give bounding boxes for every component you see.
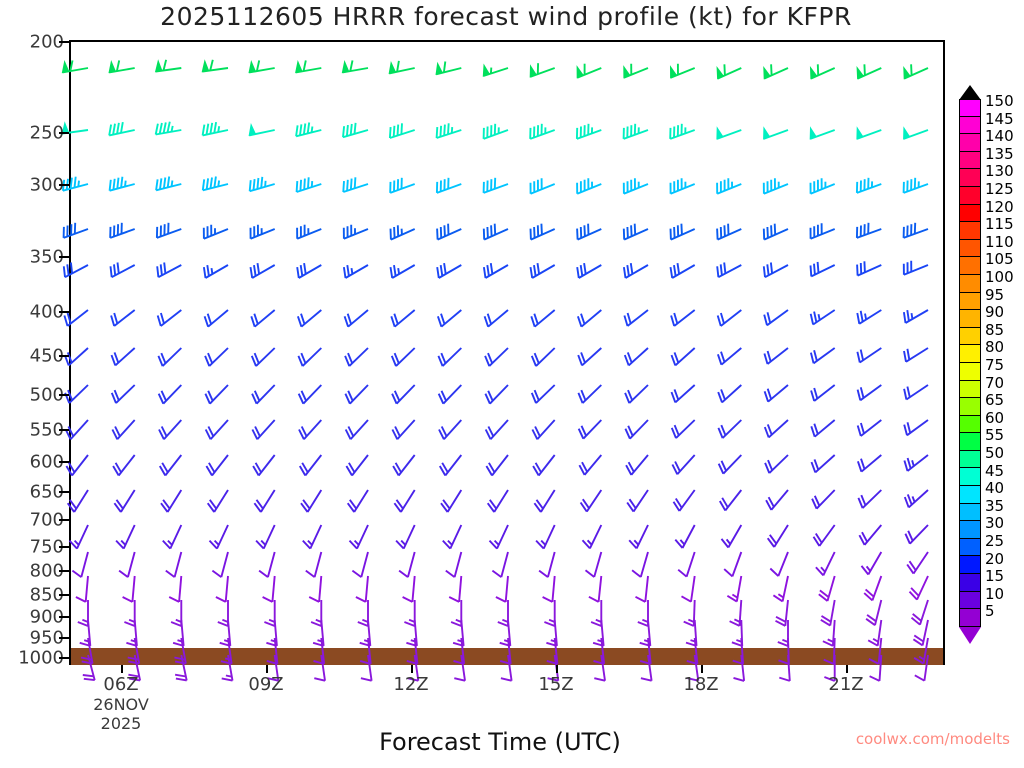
y-axis-tick-mark	[59, 616, 69, 618]
colorbar-tick-label: 115	[985, 215, 1014, 233]
colorbar-segment	[959, 556, 981, 574]
colorbar-segment	[959, 433, 981, 451]
colorbar-segment	[959, 293, 981, 311]
x-axis-tick-mark	[701, 665, 703, 673]
x-axis-tick-label: 18Z	[683, 674, 718, 695]
colorbar-segment	[959, 381, 981, 399]
colorbar-tick-label: 150	[985, 92, 1014, 110]
colorbar-segment	[959, 574, 981, 592]
x-axis-tick-mark	[266, 665, 268, 673]
x-axis-tick-label: 15Z	[538, 674, 573, 695]
colorbar-tick-label: 140	[985, 127, 1014, 145]
colorbar-tick-label: 15	[985, 567, 1004, 585]
colorbar-segment	[959, 345, 981, 363]
colorbar-segment	[959, 240, 981, 258]
y-axis-tick-mark	[59, 41, 69, 43]
colorbar-segment	[959, 468, 981, 486]
colorbar-tick-label: 55	[985, 426, 1004, 444]
colorbar-segment	[959, 486, 981, 504]
y-axis-tick-mark	[59, 394, 69, 396]
y-axis-tick-mark	[59, 570, 69, 572]
x-axis-tick-label: 06Z	[103, 674, 138, 695]
colorbar-segment	[959, 169, 981, 187]
colorbar-tick-label: 105	[985, 250, 1014, 268]
colorbar-segment	[959, 152, 981, 170]
y-axis-tick-mark	[59, 429, 69, 431]
plot-area	[69, 40, 945, 665]
y-axis-tick-mark	[59, 594, 69, 596]
colorbar-tick-label: 70	[985, 374, 1004, 392]
terrain-band	[71, 648, 943, 665]
x-axis-tick-label: 12Z	[393, 674, 428, 695]
page-title: 2025112605 HRRR forecast wind profile (k…	[0, 2, 1024, 31]
colorbar-tick-label: 25	[985, 532, 1004, 550]
colorbar-segment	[959, 504, 981, 522]
x-axis-tick-mark	[846, 665, 848, 673]
colorbar-tick-label: 80	[985, 338, 1004, 356]
y-axis-tick-label: 1000	[18, 648, 64, 669]
colorbar-under-arrow-icon	[959, 627, 981, 644]
page-title-text: 2025112605 HRRR forecast wind profile (k…	[160, 2, 852, 31]
y-axis-tick-mark	[59, 184, 69, 186]
colorbar-segment	[959, 521, 981, 539]
colorbar-tick-label: 130	[985, 162, 1014, 180]
colorbar-segment	[959, 134, 981, 152]
colorbar-segment	[959, 187, 981, 205]
colorbar-segment	[959, 328, 981, 346]
colorbar-tick-label: 100	[985, 268, 1014, 286]
colorbar-tick-label: 50	[985, 444, 1004, 462]
y-axis-tick-mark	[59, 546, 69, 548]
colorbar-segment	[959, 398, 981, 416]
colorbar-tick-label: 125	[985, 180, 1014, 198]
colorbar-tick-label: 10	[985, 585, 1004, 603]
y-axis-tick-mark	[59, 519, 69, 521]
colorbar	[959, 99, 981, 627]
x-axis-title-text: Forecast Time (UTC)	[379, 728, 621, 756]
y-axis-tick-mark	[59, 132, 69, 134]
y-axis-tick-mark	[59, 355, 69, 357]
colorbar-segment	[959, 451, 981, 469]
colorbar-tick-label: 35	[985, 497, 1004, 515]
colorbar-tick-label: 5	[985, 602, 995, 620]
colorbar-segment	[959, 257, 981, 275]
colorbar-tick-label: 60	[985, 409, 1004, 427]
y-axis-tick-mark	[59, 637, 69, 639]
colorbar-segment	[959, 310, 981, 328]
colorbar-tick-label: 75	[985, 356, 1004, 374]
colorbar-segment	[959, 222, 981, 240]
x-axis-tick-mark	[411, 665, 413, 673]
watermark: coolwx.com/modelts	[856, 730, 1010, 748]
x-axis-tick-label: 09Z	[248, 674, 283, 695]
colorbar-segment	[959, 609, 981, 627]
colorbar-tick-label: 45	[985, 462, 1004, 480]
colorbar-segment	[959, 363, 981, 381]
x-axis-date-month: 26NOV	[93, 695, 149, 714]
x-axis-tick-mark	[121, 665, 123, 673]
x-axis-tick-mark	[556, 665, 558, 673]
colorbar-tick-label: 85	[985, 321, 1004, 339]
colorbar-tick-label: 95	[985, 286, 1004, 304]
colorbar-segment	[959, 592, 981, 610]
y-axis-tick-mark	[59, 256, 69, 258]
colorbar-tick-label: 30	[985, 514, 1004, 532]
x-axis-tick-label: 21Z	[828, 674, 863, 695]
colorbar-over-arrow-icon	[959, 85, 981, 100]
y-axis-tick-mark	[59, 461, 69, 463]
colorbar-segment	[959, 205, 981, 223]
colorbar-tick-label: 20	[985, 550, 1004, 568]
colorbar-tick-label: 110	[985, 233, 1014, 251]
y-axis-tick-mark	[59, 491, 69, 493]
y-axis-tick-mark	[59, 657, 69, 659]
colorbar-tick-label: 135	[985, 145, 1014, 163]
colorbar-tick-label: 120	[985, 198, 1014, 216]
colorbar-tick-label: 145	[985, 110, 1014, 128]
colorbar-tick-label: 65	[985, 391, 1004, 409]
colorbar-segment	[959, 275, 981, 293]
y-axis-tick-mark	[59, 311, 69, 313]
colorbar-segment	[959, 117, 981, 135]
colorbar-tick-label: 90	[985, 303, 1004, 321]
colorbar-segment	[959, 416, 981, 434]
colorbar-segment	[959, 99, 981, 117]
colorbar-tick-label: 40	[985, 479, 1004, 497]
colorbar-segment	[959, 539, 981, 557]
